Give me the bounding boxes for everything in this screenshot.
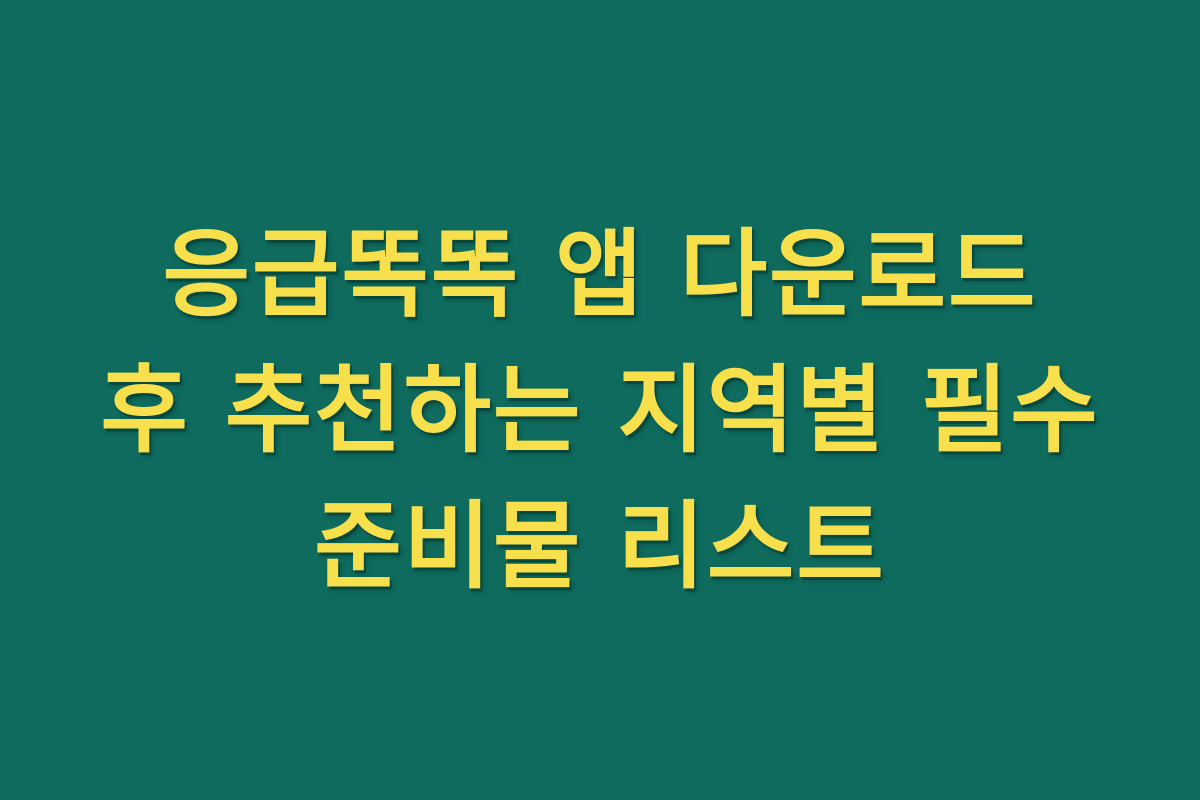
headline-line-2: 후 추천하는 지역별 필수: [100, 343, 1099, 479]
headline-line-3: 준비물 리스트: [314, 479, 885, 615]
headline-block: 응급똑똑 앱 다운로드 후 추천하는 지역별 필수 준비물 리스트: [40, 207, 1160, 615]
headline-line-1: 응급똑똑 앱 다운로드: [163, 207, 1038, 343]
title-banner: 응급똑똑 앱 다운로드 후 추천하는 지역별 필수 준비물 리스트: [0, 0, 1200, 800]
